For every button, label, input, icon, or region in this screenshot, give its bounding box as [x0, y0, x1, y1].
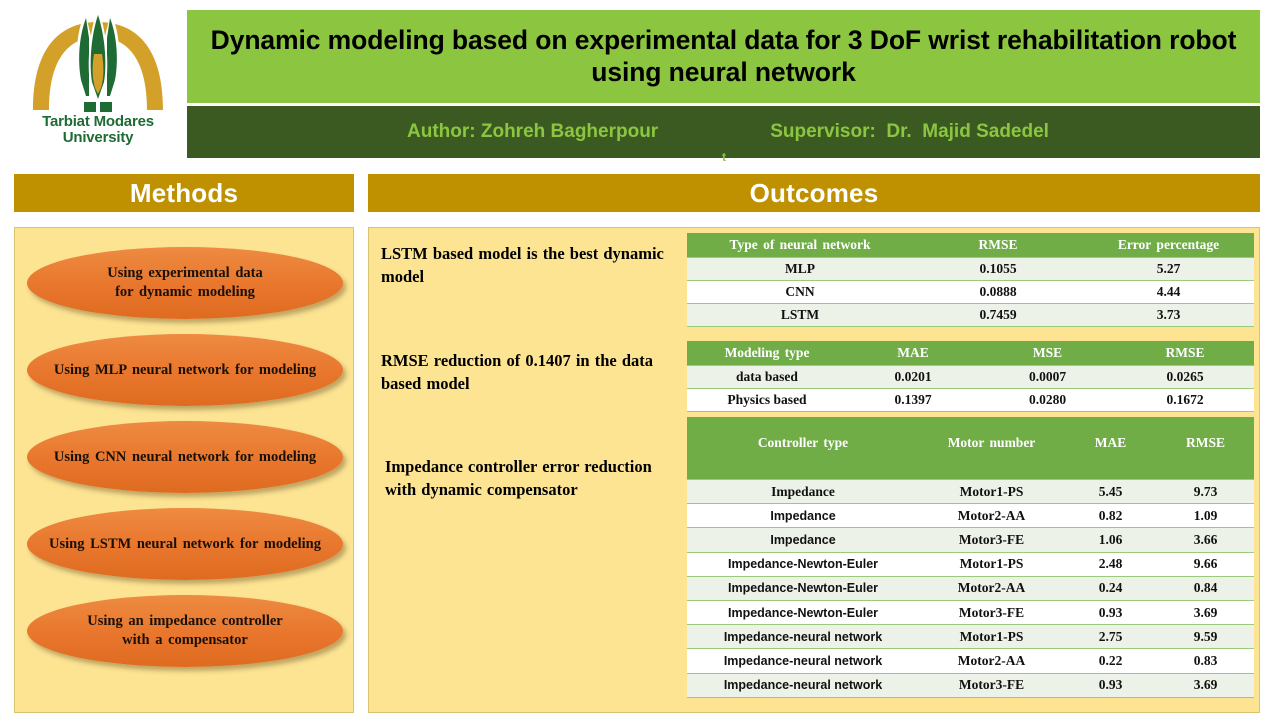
outcome-statement: Impedance controller error reduction wit…	[385, 455, 685, 502]
cell: 0.1055	[913, 258, 1083, 281]
cell: Motor1-PS	[919, 552, 1064, 576]
cell: 3.73	[1083, 304, 1254, 327]
method-oval-label: Using CNN neural network for modeling	[32, 448, 338, 467]
cell: Impedance-Newton-Euler	[687, 576, 919, 600]
cell: Impedance-neural network	[687, 649, 919, 673]
controller-errors-table: Controller type Motor number MAE RMSE Im…	[687, 417, 1254, 698]
method-oval: Using MLP neural network for modeling	[27, 334, 343, 406]
university-logo: Tarbiat Modares University	[18, 6, 178, 158]
table-header-row: Type of neural network RMSE Error percen…	[687, 233, 1254, 258]
logo-mark-icon	[23, 6, 173, 114]
column-header: RMSE	[1116, 341, 1254, 366]
cell: 0.1397	[847, 389, 979, 412]
cell: 3.69	[1157, 600, 1254, 624]
outcome-statement: LSTM based model is the best dynamic mod…	[381, 242, 681, 289]
table-row: Impedance-Newton-Euler Motor2-AA 0.24 0.…	[687, 576, 1254, 600]
methods-panel: Using experimental datafor dynamic model…	[14, 227, 354, 713]
cell: 1.09	[1157, 504, 1254, 528]
cell: 0.7459	[913, 304, 1083, 327]
table-row: LSTM 0.7459 3.73	[687, 304, 1254, 327]
cell: Impedance	[687, 528, 919, 552]
cell: Motor2-AA	[919, 504, 1064, 528]
cell: 9.73	[1157, 480, 1254, 504]
cell: 3.69	[1157, 673, 1254, 697]
cell: CNN	[687, 281, 913, 304]
cell: 1.06	[1064, 528, 1157, 552]
logo-university-name: Tarbiat Modares University	[42, 114, 154, 146]
table-row: data based 0.0201 0.0007 0.0265	[687, 366, 1254, 389]
table-header-row: Modeling type MAE MSE RMSE	[687, 341, 1254, 366]
cell: Motor3-FE	[919, 528, 1064, 552]
cell: 5.45	[1064, 480, 1157, 504]
column-header: RMSE	[1157, 417, 1254, 480]
method-oval-label: Using an impedance controllerwith a comp…	[65, 612, 304, 649]
table-row: Impedance Motor1-PS 5.45 9.73	[687, 480, 1254, 504]
cell: 0.93	[1064, 600, 1157, 624]
cell: 0.1672	[1116, 389, 1254, 412]
table-row: Impedance-neural network Motor1-PS 2.75 …	[687, 625, 1254, 649]
cell: 3.66	[1157, 528, 1254, 552]
table-row: CNN 0.0888 4.44	[687, 281, 1254, 304]
methods-section-header: Methods	[14, 174, 354, 212]
stray-character: t	[722, 150, 726, 164]
cell: 0.84	[1157, 576, 1254, 600]
cell: Physics based	[687, 389, 847, 412]
column-header: Motor number	[919, 417, 1064, 480]
cell: 5.27	[1083, 258, 1254, 281]
cell: 0.0280	[979, 389, 1116, 412]
table-row: Impedance-Newton-Euler Motor1-PS 2.48 9.…	[687, 552, 1254, 576]
cell: 2.75	[1064, 625, 1157, 649]
column-header: RMSE	[913, 233, 1083, 258]
modeling-type-errors-table: Modeling type MAE MSE RMSE data based 0.…	[687, 341, 1254, 412]
logo-name-line-2: University	[42, 130, 154, 146]
cell: Impedance-neural network	[687, 673, 919, 697]
outcome-statement: RMSE reduction of 0.1407 in the data bas…	[381, 349, 681, 396]
cell: MLP	[687, 258, 913, 281]
cell: 0.83	[1157, 649, 1254, 673]
cell: Motor1-PS	[919, 625, 1064, 649]
cell: 0.22	[1064, 649, 1157, 673]
cell: 9.66	[1157, 552, 1254, 576]
poster-banner: Tarbiat Modares University Dynamic model…	[0, 0, 1280, 163]
cell: 0.0265	[1116, 366, 1254, 389]
cell: 9.59	[1157, 625, 1254, 649]
outcomes-panel: LSTM based model is the best dynamic mod…	[368, 227, 1260, 713]
tarbiat-modares-emblem-icon	[23, 6, 173, 114]
cell: Impedance-Newton-Euler	[687, 552, 919, 576]
cell: 0.93	[1064, 673, 1157, 697]
cell: Impedance-Newton-Euler	[687, 600, 919, 624]
method-oval-label: Using MLP neural network for modeling	[32, 361, 338, 380]
poster-title: Dynamic modeling based on experimental d…	[201, 25, 1246, 89]
column-header: MAE	[1064, 417, 1157, 480]
cell: 0.82	[1064, 504, 1157, 528]
table-row: MLP 0.1055 5.27	[687, 258, 1254, 281]
logo-name-line-1: Tarbiat Modares	[42, 114, 154, 130]
cell: Motor2-AA	[919, 576, 1064, 600]
method-oval: Using an impedance controllerwith a comp…	[27, 595, 343, 667]
column-header: Type of neural network	[687, 233, 913, 258]
table-row: Impedance-neural network Motor2-AA 0.22 …	[687, 649, 1254, 673]
table-row: Impedance-neural network Motor3-FE 0.93 …	[687, 673, 1254, 697]
method-oval-label: Using experimental datafor dynamic model…	[85, 264, 284, 301]
methods-header-label: Methods	[130, 178, 238, 209]
outcomes-header-label: Outcomes	[750, 178, 879, 209]
cell: Motor2-AA	[919, 649, 1064, 673]
cell: 0.0201	[847, 366, 979, 389]
table-row: Impedance-Newton-Euler Motor3-FE 0.93 3.…	[687, 600, 1254, 624]
outcomes-section-header: Outcomes	[368, 174, 1260, 212]
column-header: MAE	[847, 341, 979, 366]
supervisor-label: Supervisor: Dr. Majid Sadedel	[770, 121, 1049, 143]
column-header: Controller type	[687, 417, 919, 480]
cell: 0.0888	[913, 281, 1083, 304]
cell: Impedance-neural network	[687, 625, 919, 649]
cell: 0.24	[1064, 576, 1157, 600]
cell: Motor1-PS	[919, 480, 1064, 504]
poster-title-band: Dynamic modeling based on experimental d…	[187, 10, 1260, 103]
neural-network-rmse-table: Type of neural network RMSE Error percen…	[687, 233, 1254, 327]
cell: Motor3-FE	[919, 673, 1064, 697]
author-label: Author: Zohreh Bagherpour	[407, 121, 658, 143]
cell: 2.48	[1064, 552, 1157, 576]
method-oval-label: Using LSTM neural network for modeling	[27, 535, 343, 554]
table-header-row: Controller type Motor number MAE RMSE	[687, 417, 1254, 480]
cell: 0.0007	[979, 366, 1116, 389]
column-header: Error percentage	[1083, 233, 1254, 258]
table-row: Impedance Motor2-AA 0.82 1.09	[687, 504, 1254, 528]
method-oval: Using LSTM neural network for modeling	[27, 508, 343, 580]
cell: data based	[687, 366, 847, 389]
table-row: Impedance Motor3-FE 1.06 3.66	[687, 528, 1254, 552]
column-header: Modeling type	[687, 341, 847, 366]
cell: LSTM	[687, 304, 913, 327]
column-header: MSE	[979, 341, 1116, 366]
method-oval: Using CNN neural network for modeling	[27, 421, 343, 493]
cell: Impedance	[687, 480, 919, 504]
cell: Motor3-FE	[919, 600, 1064, 624]
cell: 4.44	[1083, 281, 1254, 304]
method-oval: Using experimental datafor dynamic model…	[27, 247, 343, 319]
table-row: Physics based 0.1397 0.0280 0.1672	[687, 389, 1254, 412]
cell: Impedance	[687, 504, 919, 528]
